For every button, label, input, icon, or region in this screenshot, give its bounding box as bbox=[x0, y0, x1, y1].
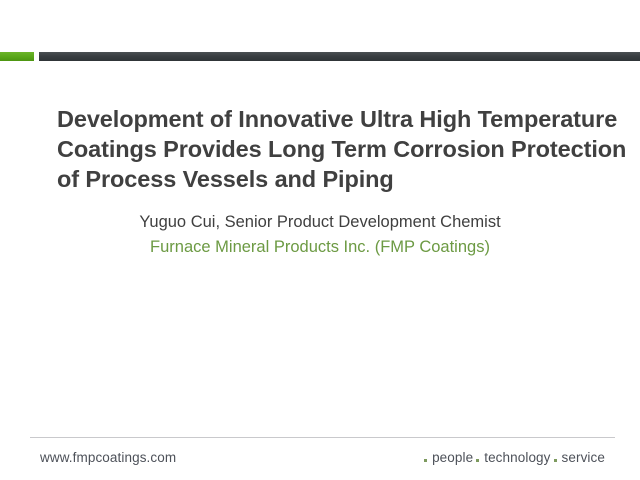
footer-divider bbox=[30, 437, 615, 438]
footer-website-link[interactable]: www.fmpcoatings.com bbox=[40, 450, 176, 465]
company-name: Furnace Mineral Products Inc. (FMP Coati… bbox=[0, 235, 640, 260]
tagline-word-people: people bbox=[432, 450, 473, 465]
title-line-2: Coatings Provides Long Term Corrosion Pr… bbox=[57, 134, 602, 164]
dark-accent-bar bbox=[39, 52, 640, 61]
presentation-slide: Development of Innovative Ultra High Tem… bbox=[0, 0, 640, 480]
square-bullet-icon bbox=[476, 459, 479, 462]
top-accent-rule bbox=[0, 52, 640, 61]
presenter-name: Yuguo Cui, Senior Product Development Ch… bbox=[0, 210, 640, 235]
title-line-1: Development of Innovative Ultra High Tem… bbox=[57, 104, 602, 134]
tagline-word-technology: technology bbox=[484, 450, 550, 465]
green-accent-block bbox=[0, 52, 34, 61]
tagline-word-service: service bbox=[562, 450, 605, 465]
title-line-3: of Process Vessels and Piping bbox=[57, 164, 602, 194]
footer-tagline: people technology service bbox=[424, 450, 605, 465]
subtitle-block: Yuguo Cui, Senior Product Development Ch… bbox=[0, 210, 640, 260]
slide-footer: www.fmpcoatings.com people technology se… bbox=[0, 450, 640, 472]
square-bullet-icon bbox=[554, 459, 557, 462]
page-title: Development of Innovative Ultra High Tem… bbox=[57, 104, 602, 194]
square-bullet-icon bbox=[424, 459, 427, 462]
